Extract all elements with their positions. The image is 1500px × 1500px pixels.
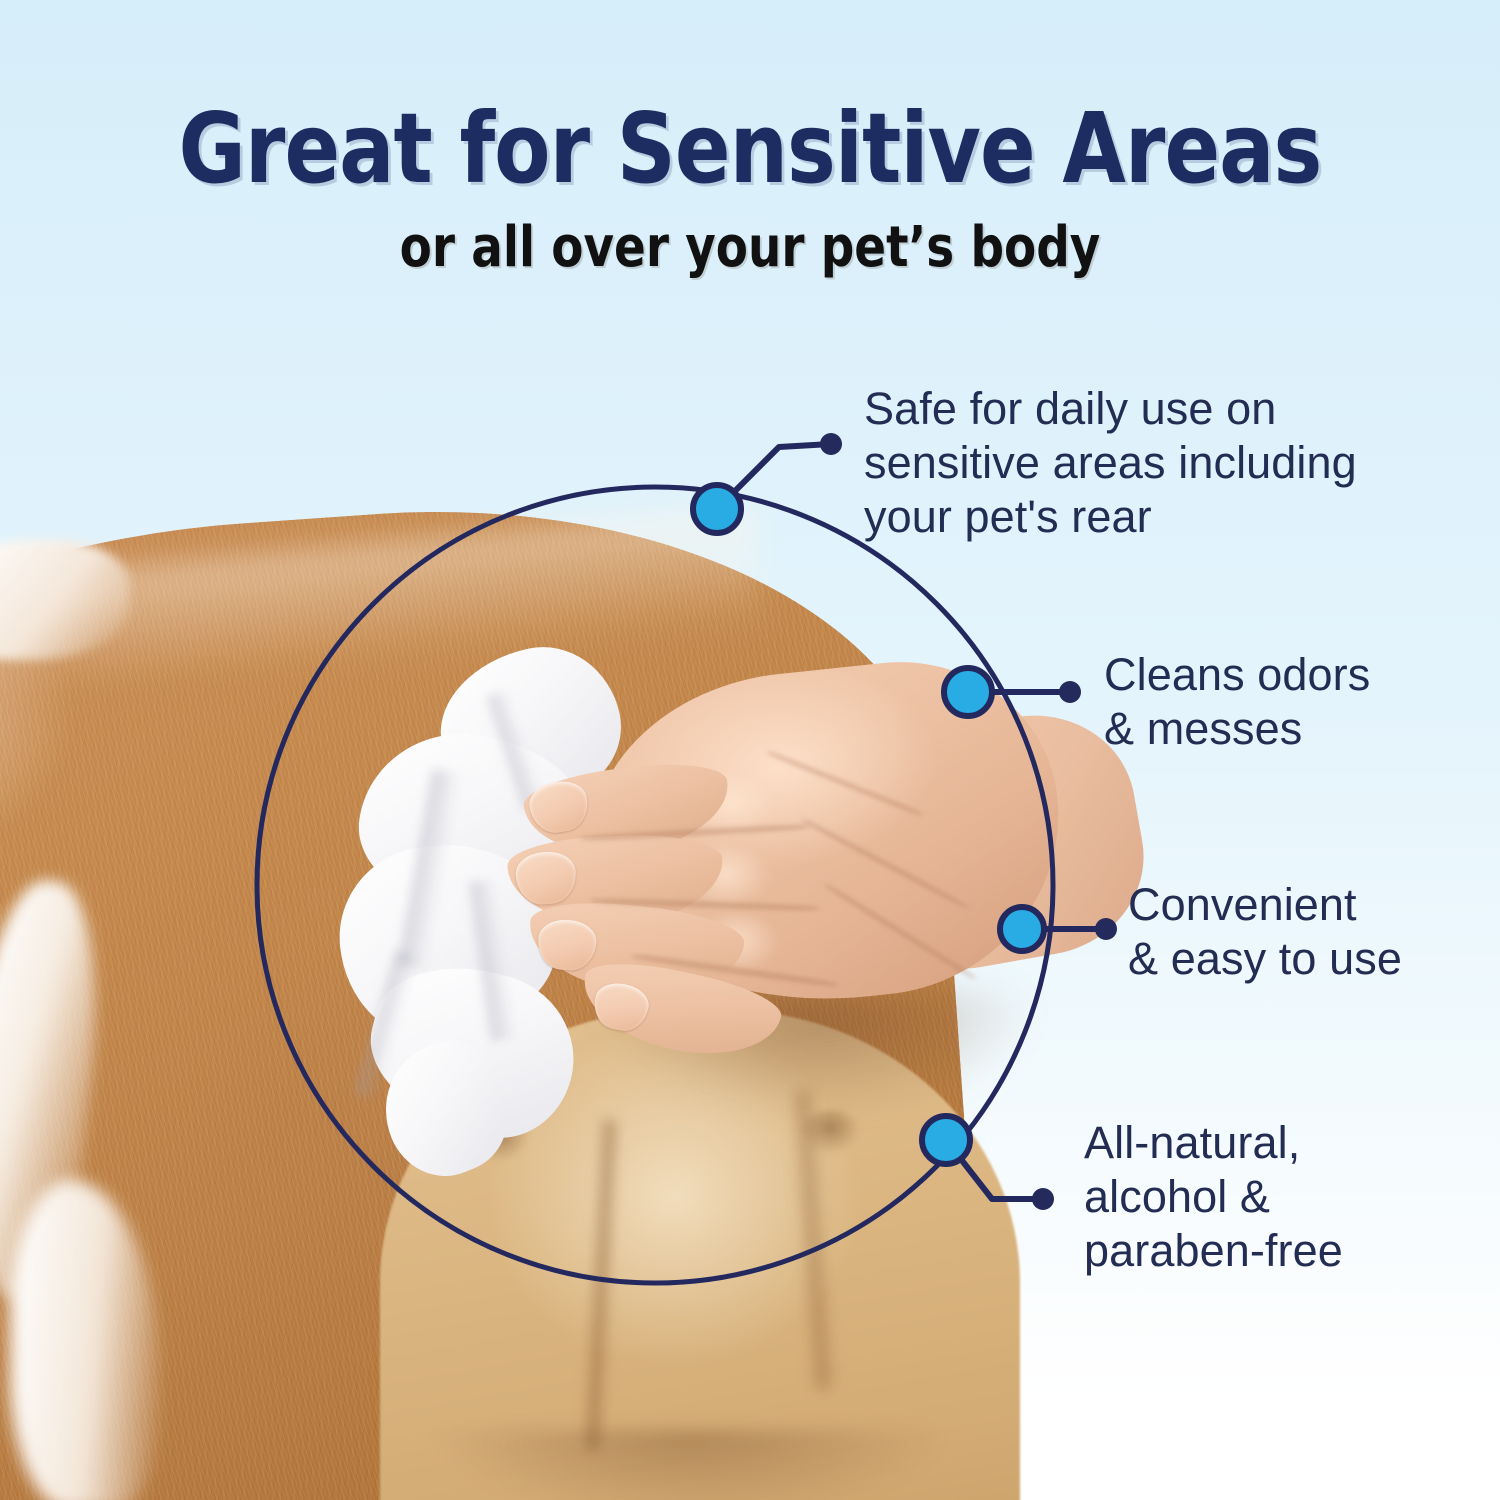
- endpoint-dot-1: [820, 433, 842, 455]
- feature-node-4[interactable]: [922, 1116, 970, 1164]
- endpoint-dot-4: [1032, 1188, 1054, 1210]
- feature-callout-1: Safe for daily use on sensitive areas in…: [864, 382, 1444, 544]
- feature-callout-4: All-natural, alcohol & paraben-free: [1084, 1116, 1484, 1278]
- feature-nodes[interactable]: [693, 485, 1044, 1164]
- page-subheadline: or all over your pet’s body: [53, 215, 1448, 280]
- feature-callout-3: Convenient & easy to use: [1128, 878, 1500, 986]
- page-headline: Great for Sensitive Areas: [45, 92, 1455, 205]
- feature-callout-2: Cleans odors & messes: [1104, 648, 1500, 756]
- feature-node-3[interactable]: [1000, 907, 1044, 951]
- product-feature-graphic: Great for Sensitive Areas or all over yo…: [0, 0, 1500, 1500]
- feature-node-2[interactable]: [944, 668, 992, 716]
- feature-node-1[interactable]: [693, 485, 741, 533]
- endpoint-dot-2: [1059, 681, 1081, 703]
- endpoint-dot-3: [1095, 918, 1117, 940]
